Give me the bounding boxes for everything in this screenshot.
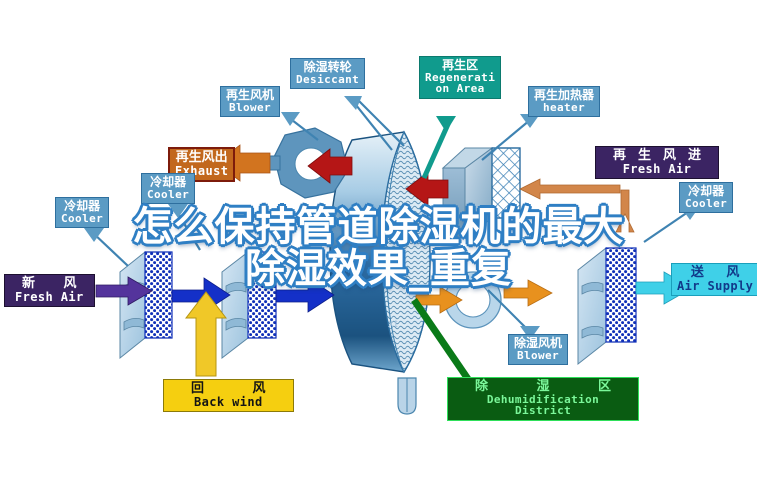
label-cooler-left-1-cn: 冷却器 [61,200,103,213]
blower-outlet-arrow [504,280,552,306]
label-dehumidification-district-en2: District [453,405,633,417]
label-cooler-right-cn: 冷却器 [685,185,727,198]
label-air-supply-en: Air Supply [677,280,753,293]
label-dehumidification-district-cn: 除 湿 区 [453,380,633,394]
label-regen-blower-en: Blower [226,102,274,114]
label-cooler-left-2-en: Cooler [147,189,189,201]
label-regen-blower[interactable]: 再生风机 Blower [220,86,280,117]
watermark: xt [388,318,399,330]
label-cooler-left-2-cn: 冷却器 [147,176,189,189]
label-regeneration-heater[interactable]: 再生加热器 heater [528,86,600,117]
label-cooler-left-1[interactable]: 冷却器 Cooler [55,197,109,228]
label-regeneration-area[interactable]: 再生区 Regenerati on Area [419,56,501,99]
label-fresh-air-cn: 新 风 [10,277,89,291]
label-regen-blower-cn: 再生风机 [226,89,274,102]
label-dehumidification-district[interactable]: 除 湿 区 Dehumidification District [447,377,639,421]
label-regeneration-area-en2: on Area [425,83,495,95]
label-fresh-air-en: Fresh Air [10,291,89,304]
label-regeneration-heater-cn: 再生加热器 [534,89,594,102]
label-regeneration-heater-en: heater [534,102,594,114]
label-desiccant-en: Desiccant [296,74,359,86]
label-regeneration-area-cn: 再生区 [425,59,495,72]
label-dehumidification-blower-cn: 除湿风机 [514,337,562,350]
regeneration-heater-graphic [443,148,520,238]
label-fresh-air[interactable]: 新 风 Fresh Air [4,274,95,307]
heater-inlet-arrow [520,179,620,199]
back-wind-arrow [186,292,226,376]
dehumidifier-diagram: 除湿转轮 Desiccant 再生风机 Blower 再生区 Regenerat… [0,0,757,488]
label-air-supply-cn: 送 风 [677,266,753,280]
cooler-unit-mid-graphic [222,252,276,358]
label-cooler-right-en: Cooler [685,198,727,210]
label-exhaust-cn: 再生风出 [175,151,228,165]
fresh-air-up-arrow [616,190,634,232]
diagram-graphics [0,0,757,488]
label-back-wind[interactable]: 回 风 Back wind [163,379,294,412]
label-dehumidification-blower-en: Blower [514,350,562,362]
label-back-wind-cn: 回 风 [169,382,288,396]
label-back-wind-en: Back wind [169,396,288,409]
label-desiccant-cn: 除湿转轮 [296,61,359,74]
label-fresh-air-regen[interactable]: 再生风进 Fresh Air [595,146,719,179]
label-cooler-left-1-en: Cooler [61,213,103,225]
cooler-out-arrow [276,278,334,312]
label-cooler-right[interactable]: 冷却器 Cooler [679,182,733,213]
label-desiccant[interactable]: 除湿转轮 Desiccant [290,58,365,89]
supply-filter-graphic [578,248,636,364]
label-cooler-left-2[interactable]: 冷却器 Cooler [141,173,195,204]
label-fresh-air-regen-cn: 再生风进 [601,149,713,163]
label-dehumidification-blower[interactable]: 除湿风机 Blower [508,334,568,365]
label-air-supply[interactable]: 送 风 Air Supply [671,263,757,296]
label-fresh-air-regen-en: Fresh Air [601,163,713,176]
